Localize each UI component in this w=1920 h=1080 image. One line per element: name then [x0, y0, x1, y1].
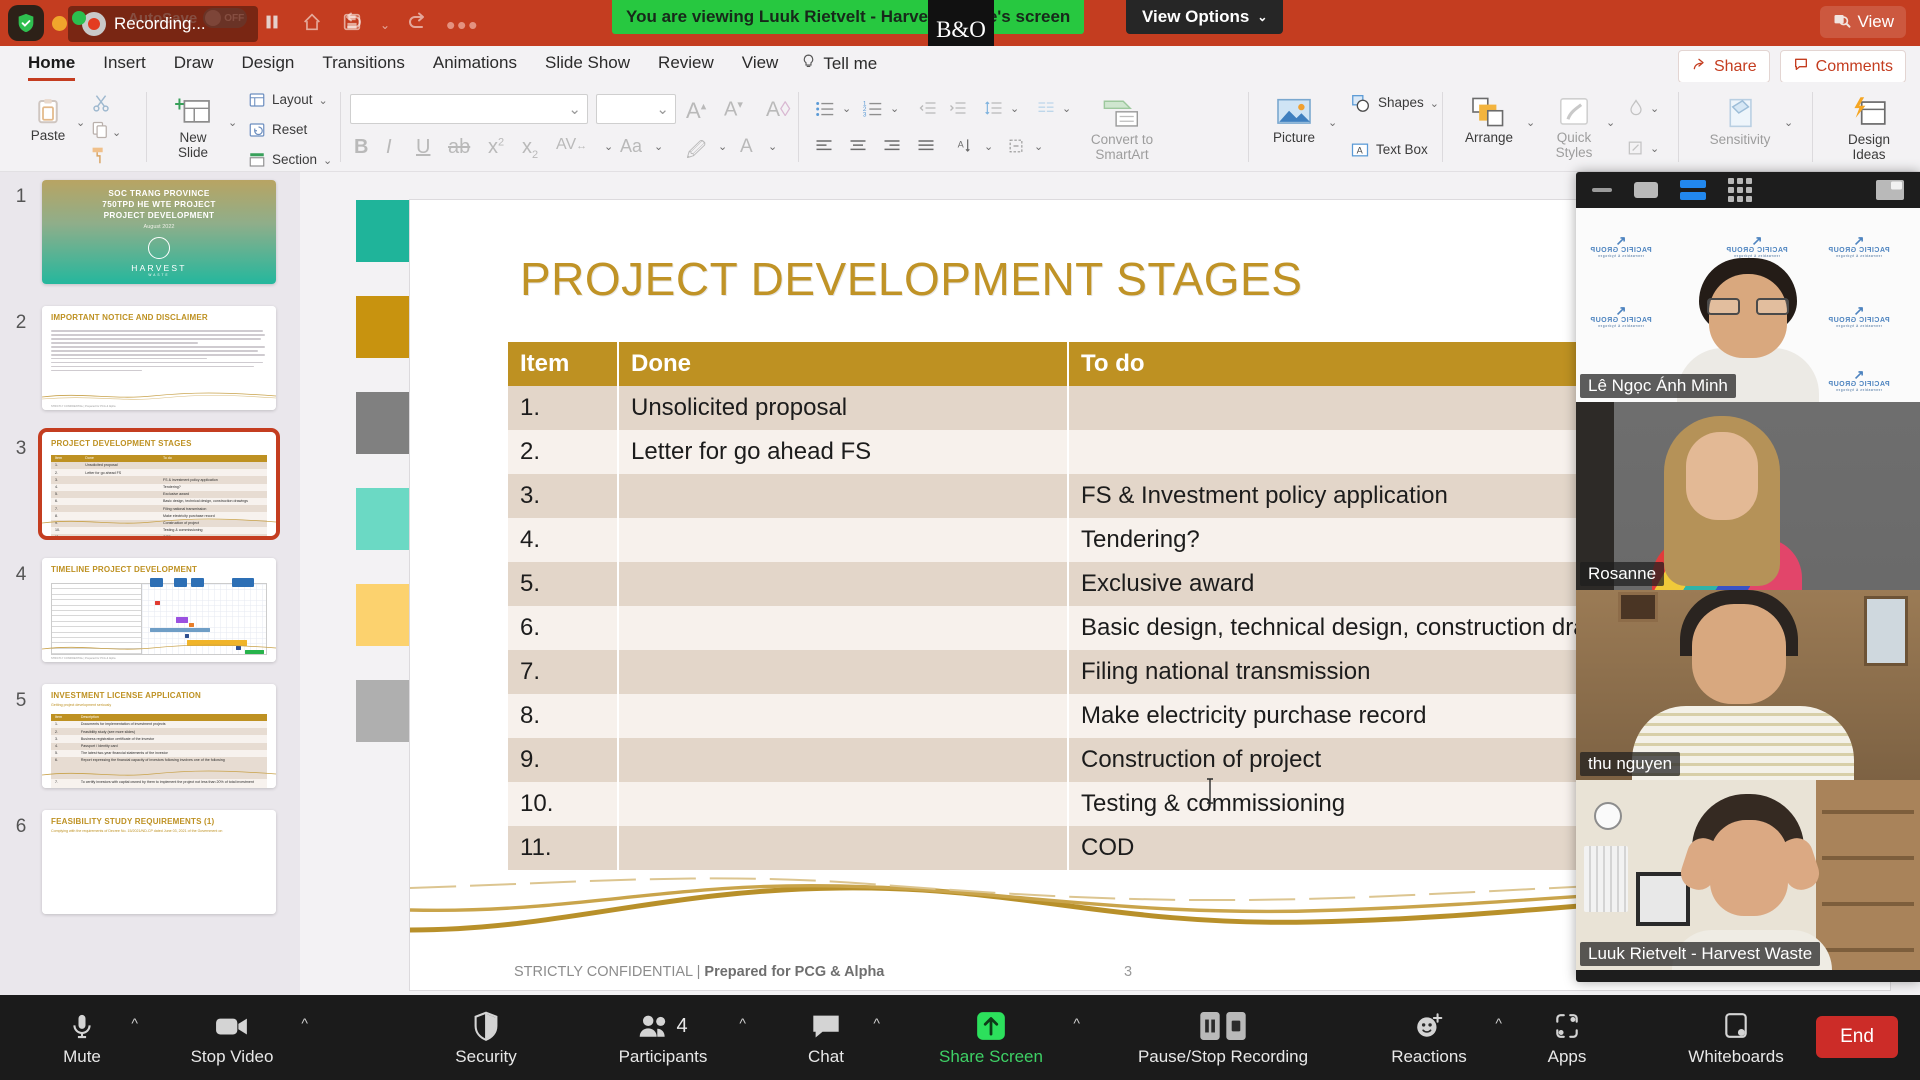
italic-button[interactable]: I — [386, 136, 392, 159]
thumbnail-card[interactable]: SOC TRANG PROVINCE 750TPD HE WTE PROJECT… — [42, 180, 276, 284]
copy-icon[interactable] — [90, 120, 110, 145]
home-icon[interactable] — [298, 8, 326, 36]
thumbnail-content: PROJECT DEVELOPMENT STAGES ItemDoneTo do… — [42, 432, 276, 536]
tab-review[interactable]: Review — [644, 49, 728, 79]
powerpoint-title-bar: AutoSave OFF Recording... ⌄ ••• You are … — [0, 0, 1920, 46]
swatch-light-teal[interactable] — [356, 488, 416, 550]
smiley-plus-icon — [1414, 1010, 1444, 1042]
microphone-icon — [68, 1010, 96, 1042]
section-label: Section — [272, 152, 317, 167]
undo-redo-group: ⌄ ••• — [340, 10, 479, 39]
share-screen-label: Share Screen — [939, 1048, 1043, 1065]
bo-logo-text: B&O — [936, 20, 986, 40]
tab-insert[interactable]: Insert — [89, 49, 160, 79]
cell-done: Unsolicited proposal — [618, 386, 1068, 430]
chat-chevron-up-icon[interactable]: ^ — [873, 1015, 880, 1031]
undo-chevron-down-icon[interactable]: ⌄ — [380, 18, 390, 32]
end-meeting-button[interactable]: End — [1816, 1016, 1898, 1058]
section-chevron-down-icon[interactable]: ⌄ — [323, 154, 332, 167]
stop-video-label: Stop Video — [191, 1048, 274, 1065]
share-arrow-icon — [976, 1010, 1006, 1042]
thumbnail-body-lines — [51, 330, 267, 371]
zoom-meeting-toolbar: Mute ^ Stop Video ^ Security 4 Participa… — [0, 995, 1920, 1080]
thumbnail-title: INVESTMENT LICENSE APPLICATION — [51, 691, 267, 700]
text-cursor-icon — [1205, 778, 1215, 804]
share-icon — [1691, 56, 1707, 77]
copy-chevron-down-icon[interactable]: ⌄ — [112, 126, 121, 139]
line-spacing-icon[interactable] — [984, 98, 1004, 123]
highlight-chevron-down-icon[interactable]: ⌄ — [718, 140, 727, 153]
cut-scissors-icon[interactable] — [90, 92, 112, 119]
swatch-gold[interactable] — [356, 296, 416, 358]
participants-icon: 4 — [638, 1010, 687, 1042]
tab-draw[interactable]: Draw — [160, 49, 228, 79]
reactions-chevron-up-icon[interactable]: ^ — [1495, 1015, 1502, 1031]
apps-button[interactable]: Apps — [1530, 995, 1604, 1080]
harvest-logo: HARVEST WASTE — [42, 237, 276, 277]
arrange-label: Arrange — [1465, 130, 1513, 145]
color-swatch-strip — [356, 200, 416, 776]
recording-indicator[interactable]: Recording... — [68, 6, 258, 42]
picture-chevron-down-icon[interactable]: ⌄ — [1328, 116, 1337, 129]
ribbon-group-drawing: Arrange ⌄ QuickStyles ⌄ ⌄ ⌄ — [1452, 82, 1667, 172]
numbering-chevron-down-icon[interactable]: ⌄ — [890, 102, 899, 115]
ribbon-group-paragraph: ⌄ 123 ⌄ ⌄ ⌄ A ⌄ ⌄ Convert toSmartArt — [808, 82, 1138, 172]
text-highlight-icon[interactable]: 🖉 — [686, 136, 706, 168]
chat-bubble-icon — [811, 1010, 841, 1042]
format-painter-icon[interactable] — [88, 144, 110, 171]
line-spacing-chevron-down-icon[interactable]: ⌄ — [1010, 102, 1019, 115]
column-header-item: Item — [508, 342, 618, 386]
ribbon-body: Paste ⌄ ⌄ NewSlide ⌄ Layout ⌄ Reset Sect… — [0, 82, 1920, 172]
subscript-button[interactable]: x2 — [522, 136, 538, 161]
mute-label: Mute — [63, 1048, 101, 1065]
thumbnail-content: FEASIBILITY STUDY REQUIREMENTS (1) Compl… — [42, 810, 276, 914]
cell-item: 4. — [508, 518, 618, 562]
decorative-wave — [42, 642, 276, 654]
thumbnail-title: PROJECT DEVELOPMENT STAGES — [51, 439, 267, 448]
participant-name: thu nguyen — [1580, 752, 1680, 776]
share-button-label: Share — [1714, 58, 1757, 76]
text-box-label: Text Box — [1376, 142, 1428, 157]
align-text-icon[interactable] — [1006, 136, 1026, 161]
ribbon-group-slides: NewSlide ⌄ Layout ⌄ Reset Section ⌄ — [156, 82, 326, 172]
picture-button[interactable]: Picture — [1260, 96, 1328, 145]
paste-chevron-down-icon[interactable]: ⌄ — [76, 116, 85, 129]
pause-stop-icon — [1200, 1010, 1246, 1042]
layout-chevron-down-icon[interactable]: ⌄ — [319, 94, 328, 107]
thumbnail-title: TIMELINE PROJECT DEVELOPMENT — [51, 565, 267, 574]
new-slide-label-line1: New — [179, 130, 206, 145]
swatch-yellow[interactable] — [356, 584, 416, 646]
thumbnail-number: 5 — [0, 684, 42, 712]
underline-button[interactable]: U — [416, 136, 430, 159]
cell-done — [618, 738, 1068, 782]
design-ideas-line2: Ideas — [1852, 147, 1885, 162]
thumbnail-card[interactable]: TIMELINE PROJECT DEVELOPMENT — [42, 558, 276, 662]
align-left-icon[interactable] — [814, 136, 834, 161]
picture-in-picture-icon[interactable] — [1876, 180, 1904, 200]
footer-prepared-for: Prepared for PCG & Alpha — [704, 964, 884, 980]
thumbnail-card[interactable]: INVESTMENT LICENSE APPLICATION Getting p… — [42, 684, 276, 788]
chevron-down-icon: ⌄ — [1257, 10, 1267, 24]
mute-button[interactable]: Mute ^ — [44, 995, 120, 1080]
video-chevron-up-icon[interactable]: ^ — [301, 1015, 308, 1031]
swatch-light-gray[interactable] — [356, 680, 416, 742]
paste-button[interactable]: Paste — [20, 96, 76, 143]
view-button-label: View — [1857, 12, 1894, 32]
thumbnail-card[interactable]: FEASIBILITY STUDY REQUIREMENTS (1) Compl… — [42, 810, 276, 914]
cell-done — [618, 474, 1068, 518]
recording-label: Recording... — [114, 14, 206, 34]
convert-to-smartart-button[interactable]: Convert toSmartArt — [1076, 96, 1168, 162]
svg-text:A: A — [958, 140, 965, 150]
columns-chevron-down-icon[interactable]: ⌄ — [1062, 102, 1071, 115]
cell-item: 9. — [508, 738, 618, 782]
participants-button[interactable]: 4 Participants ^ — [598, 995, 728, 1080]
new-slide-label-line2: Slide — [178, 145, 208, 160]
cell-item: 5. — [508, 562, 618, 606]
font-color-icon[interactable]: A — [740, 136, 753, 158]
font-size-select[interactable]: ⌄ — [596, 94, 676, 124]
screen-share-banner: You are viewing Luuk Rietvelt - Harvest … — [612, 0, 1084, 34]
clear-formatting-icon[interactable]: A◊ — [766, 98, 790, 122]
participant-tile-active[interactable]: thu nguyen — [1576, 590, 1920, 780]
quick-styles-chevron-down-icon[interactable]: ⌄ — [1606, 116, 1615, 129]
cell-item: 7. — [508, 650, 618, 694]
thumbnail-subtitle: Getting project development seriously — [51, 703, 267, 707]
thumbnail-footer: STRICTLY CONFIDENTIAL | Prepared for PCG… — [51, 405, 115, 408]
text-box-button[interactable]: A Text Box — [1350, 140, 1428, 160]
tab-home[interactable]: Home — [14, 49, 89, 79]
zoom-panel-controls — [1576, 172, 1920, 208]
thumbnail-number: 6 — [0, 810, 42, 838]
sensitivity-chevron-down-icon[interactable]: ⌄ — [1784, 116, 1793, 129]
participant-name: Lê Ngọc Ánh Minh — [1580, 374, 1736, 398]
tab-transitions[interactable]: Transitions — [308, 49, 419, 79]
tell-me-search[interactable]: Tell me — [792, 53, 877, 75]
thumbnail-content: INVESTMENT LICENSE APPLICATION Getting p… — [42, 684, 276, 788]
cell-item: 1. — [508, 386, 618, 430]
thumbnail-title: IMPORTANT NOTICE AND DISCLAIMER — [51, 313, 267, 322]
character-spacing-button[interactable]: AV↔ — [556, 136, 587, 154]
bullet-list-icon[interactable] — [814, 98, 836, 125]
whiteboards-button[interactable]: Whiteboards — [1656, 995, 1816, 1080]
share-screen-button[interactable]: Share Screen ^ — [920, 995, 1062, 1080]
new-slide-button[interactable]: NewSlide — [160, 96, 226, 160]
shape-fill-icon[interactable] — [1626, 98, 1646, 123]
thumbnail-date: August 2022 — [42, 224, 276, 230]
slide-title[interactable]: PROJECT DEVELOPMENT STAGES — [520, 252, 1302, 306]
thumbnail-cover-art: SOC TRANG PROVINCE 750TPD HE WTE PROJECT… — [42, 180, 276, 284]
reset-label: Reset — [272, 122, 307, 137]
view-options-label: View Options — [1142, 7, 1249, 27]
shape-effects-chevron-down-icon[interactable]: ⌄ — [1650, 142, 1659, 155]
mute-chevron-up-icon[interactable]: ^ — [131, 1015, 138, 1031]
font-color-chevron-down-icon[interactable]: ⌄ — [768, 140, 777, 153]
apps-label: Apps — [1548, 1048, 1587, 1065]
align-right-icon[interactable] — [882, 136, 902, 161]
shape-effects-icon[interactable] — [1626, 138, 1646, 163]
comments-button-label: Comments — [1816, 58, 1893, 76]
share-button[interactable]: Share — [1678, 50, 1770, 83]
cell-item: 10. — [508, 782, 618, 826]
sensitivity-button[interactable]: Sensitivity — [1700, 96, 1780, 147]
magnifier-icon — [1832, 10, 1852, 35]
align-text-chevron-down-icon[interactable]: ⌄ — [1034, 140, 1043, 153]
brand-subname: WASTE — [42, 273, 276, 277]
chat-label: Chat — [808, 1048, 844, 1065]
cell-done — [618, 694, 1068, 738]
cell-done — [618, 562, 1068, 606]
participants-label: Participants — [619, 1048, 708, 1065]
comments-button[interactable]: Comments — [1780, 50, 1906, 83]
participant-video: ↖PACIFIC GROUPrenewables & hydrogen ↖PAC… — [1576, 208, 1920, 402]
security-button[interactable]: Security — [436, 995, 536, 1080]
participants-count-badge: 4 — [676, 1015, 687, 1038]
decrease-font-size-icon[interactable]: A▾ — [724, 98, 743, 122]
lightbulb-icon — [800, 53, 817, 75]
cell-done — [618, 650, 1068, 694]
increase-font-size-icon[interactable]: A▴ — [686, 98, 706, 124]
reactions-button[interactable]: Reactions ^ — [1374, 995, 1484, 1080]
column-header-done: Done — [618, 342, 1068, 386]
quick-styles-line1: Quick — [1557, 130, 1592, 145]
font-size-chevron-down-icon: ⌄ — [656, 100, 669, 118]
tab-design[interactable]: Design — [227, 49, 308, 79]
arrange-chevron-down-icon[interactable]: ⌄ — [1526, 116, 1535, 129]
end-label: End — [1840, 1026, 1874, 1048]
thumbnail-number: 3 — [0, 432, 42, 460]
zoom-video-panel[interactable]: ↖PACIFIC GROUPrenewables & hydrogen ↖PAC… — [1576, 172, 1920, 982]
cell-item: 3. — [508, 474, 618, 518]
security-shield-icon[interactable] — [8, 5, 44, 41]
shapes-label: Shapes — [1378, 95, 1424, 110]
ribbon-group-font: ⌄ ⌄ A▴ A▾ A◊ B I U ab x2 x2 AV↔ ⌄ Aa ⌄ 🖉… — [350, 82, 790, 172]
paste-label: Paste — [31, 128, 66, 143]
thumbnail-slide-3[interactable]: 3 PROJECT DEVELOPMENT STAGES ItemDoneTo … — [0, 432, 300, 536]
minimize-icon[interactable] — [1592, 188, 1612, 192]
cell-done — [618, 826, 1068, 870]
cell-item: 11. — [508, 826, 618, 870]
brand-name: HARVEST — [42, 263, 276, 273]
shapes-button[interactable]: Shapes ⌄ — [1350, 92, 1439, 114]
swatch-teal[interactable] — [356, 200, 416, 262]
undo-icon[interactable] — [340, 10, 364, 39]
thumbnail-slide-4[interactable]: 4 TIMELINE PROJECT DEVELOPMENT — [0, 558, 300, 662]
video-camera-icon — [215, 1010, 249, 1042]
thumbnail-slide-5[interactable]: 5 INVESTMENT LICENSE APPLICATION Getting… — [0, 684, 300, 788]
layout-label: Layout — [272, 92, 313, 107]
reactions-label: Reactions — [1391, 1048, 1467, 1065]
whiteboards-label: Whiteboards — [1688, 1048, 1783, 1065]
svg-text:A: A — [1357, 145, 1364, 155]
pause-stop-recording-label: Pause/Stop Recording — [1138, 1048, 1308, 1065]
decorative-wave — [42, 390, 276, 402]
numbered-list-icon[interactable]: 123 — [862, 98, 884, 125]
decorative-wave — [42, 768, 276, 780]
apps-icon — [1553, 1010, 1581, 1042]
design-ideas-line1: Design — [1848, 132, 1890, 147]
reset-button[interactable]: Reset — [248, 121, 307, 139]
decrease-indent-icon[interactable] — [918, 98, 938, 123]
ribbon-group-clipboard: Paste ⌄ ⌄ — [14, 82, 134, 172]
justify-icon[interactable] — [916, 136, 936, 161]
ribbon-group-insert: Picture ⌄ Shapes ⌄ A Text Box — [1258, 82, 1458, 172]
window-dots — [52, 16, 67, 31]
quick-styles-line2: Styles — [1556, 145, 1593, 160]
whiteboard-icon — [1722, 1010, 1750, 1042]
svg-text:3: 3 — [863, 111, 867, 118]
change-case-chevron-down-icon[interactable]: ⌄ — [654, 140, 663, 153]
new-slide-chevron-down-icon[interactable]: ⌄ — [228, 116, 237, 129]
shapes-chevron-down-icon[interactable]: ⌄ — [1430, 97, 1439, 110]
participant-name: Luuk Rietvelt - Harvest Waste — [1580, 942, 1820, 966]
stop-video-button[interactable]: Stop Video ^ — [174, 995, 290, 1080]
footer-confidential: STRICTLY CONFIDENTIAL — [514, 964, 693, 980]
cell-item: 8. — [508, 694, 618, 738]
participant-name: Rosanne — [1580, 562, 1664, 586]
ribbon-group-designer: DesignIdeas — [1822, 82, 1920, 172]
slide-page-number: 3 — [1124, 964, 1132, 980]
thumbnail-content: TIMELINE PROJECT DEVELOPMENT — [42, 558, 276, 662]
text-direction-icon[interactable]: A — [956, 136, 976, 161]
active-speaker-view-icon[interactable] — [1634, 182, 1658, 198]
thumbnail-slide-6[interactable]: 6 FEASIBILITY STUDY REQUIREMENTS (1) Com… — [0, 810, 300, 914]
thumbnail-number: 2 — [0, 306, 42, 334]
participant-tile[interactable]: Luuk Rietvelt - Harvest Waste — [1576, 780, 1920, 970]
cell-item: 2. — [508, 430, 618, 474]
cell-done — [618, 782, 1068, 826]
thumbnail-card-selected[interactable]: PROJECT DEVELOPMENT STAGES ItemDoneTo do… — [42, 432, 276, 536]
thumbnail-footer: STRICTLY CONFIDENTIAL | Prepared for PCG… — [51, 657, 115, 660]
slide-thumbnail-panel[interactable]: 1 SOC TRANG PROVINCE 750TPD HE WTE PROJE… — [0, 172, 300, 995]
thumbnail-slide-1[interactable]: 1 SOC TRANG PROVINCE 750TPD HE WTE PROJE… — [0, 180, 300, 284]
bullets-chevron-down-icon[interactable]: ⌄ — [842, 102, 851, 115]
change-case-button[interactable]: Aa — [620, 136, 642, 157]
view-search-button[interactable]: View — [1820, 6, 1906, 38]
tab-slide-show[interactable]: Slide Show — [531, 49, 644, 79]
increase-indent-icon[interactable] — [948, 98, 968, 123]
security-label: Security — [455, 1048, 516, 1065]
ribbon-group-sensitivity: Sensitivity ⌄ — [1688, 82, 1808, 172]
cell-done: Letter for go ahead FS — [618, 430, 1068, 474]
decorative-wave — [42, 516, 276, 528]
thumbnail-number: 4 — [0, 558, 42, 586]
slide-footer: STRICTLY CONFIDENTIAL | Prepared for PCG… — [514, 964, 884, 980]
convert-smartart-line1: Convert to — [1091, 132, 1153, 147]
chat-button[interactable]: Chat ^ — [790, 995, 862, 1080]
convert-smartart-line2: SmartArt — [1095, 147, 1148, 162]
thumbnail-card[interactable]: IMPORTANT NOTICE AND DISCLAIMER STRICTLY… — [42, 306, 276, 410]
thumbnail-subtitle: Complying with the requirements of Decre… — [51, 829, 267, 833]
font-name-select[interactable]: ⌄ — [350, 94, 588, 124]
columns-icon[interactable] — [1036, 98, 1056, 123]
screen-share-banner-text: You are viewing Luuk Rietvelt - Harvest … — [626, 7, 1070, 27]
layout-button[interactable]: Layout ⌄ — [248, 91, 328, 109]
thumbnail-slide-2[interactable]: 2 IMPORTANT NOTICE AND DISCLAIMER STRICT… — [0, 306, 300, 410]
more-commands-icon[interactable]: ••• — [446, 18, 479, 32]
cell-done — [618, 606, 1068, 650]
arrange-button[interactable]: Arrange — [1454, 96, 1524, 145]
tab-animations[interactable]: Animations — [419, 49, 531, 79]
participant-tile[interactable]: ↖PACIFIC GROUPrenewables & hydrogen ↖PAC… — [1576, 208, 1920, 402]
window-minimize-dot[interactable] — [52, 16, 67, 31]
sensitivity-label: Sensitivity — [1710, 132, 1771, 147]
participants-chevron-up-icon[interactable]: ^ — [739, 1015, 746, 1031]
redo-icon[interactable] — [406, 10, 430, 39]
text-direction-chevron-down-icon[interactable]: ⌄ — [984, 140, 993, 153]
strikethrough-button[interactable]: ab — [448, 136, 470, 159]
view-options-button[interactable]: View Options ⌄ — [1126, 0, 1283, 34]
swatch-gray[interactable] — [356, 392, 416, 454]
pause-stop-recording-button[interactable]: Pause/Stop Recording — [1114, 995, 1332, 1080]
thumbnail-title: FEASIBILITY STUDY REQUIREMENTS (1) — [51, 817, 267, 826]
shield-icon — [472, 1010, 500, 1042]
superscript-button[interactable]: x2 — [488, 136, 504, 159]
share-screen-chevron-up-icon[interactable]: ^ — [1073, 1015, 1080, 1031]
participant-tile[interactable]: Rosanne — [1576, 402, 1920, 590]
font-name-chevron-down-icon: ⌄ — [568, 100, 581, 118]
character-spacing-chevron-down-icon[interactable]: ⌄ — [604, 140, 613, 153]
design-ideas-button[interactable]: DesignIdeas — [1824, 96, 1914, 162]
thumbnail-content: IMPORTANT NOTICE AND DISCLAIMER STRICTLY… — [42, 306, 276, 410]
ribbon-tab-strip: Home Insert Draw Design Transitions Anim… — [0, 46, 1920, 82]
gallery-view-icon[interactable] — [1680, 180, 1706, 200]
align-center-icon[interactable] — [848, 136, 868, 161]
quick-styles-button[interactable]: QuickStyles — [1544, 96, 1604, 160]
comment-bubble-icon — [1793, 56, 1809, 77]
grid-view-icon[interactable] — [1728, 178, 1752, 202]
pause-icon[interactable] — [258, 8, 286, 36]
cell-done — [618, 518, 1068, 562]
tab-view[interactable]: View — [728, 49, 793, 79]
thumbnail-number: 1 — [0, 180, 42, 208]
bold-button[interactable]: B — [354, 136, 368, 159]
tell-me-label: Tell me — [823, 54, 877, 74]
thumbnail-title: SOC TRANG PROVINCE 750TPD HE WTE PROJECT… — [42, 188, 276, 221]
cell-item: 6. — [508, 606, 618, 650]
section-button[interactable]: Section ⌄ — [248, 151, 332, 169]
picture-label: Picture — [1273, 130, 1315, 145]
shape-fill-chevron-down-icon[interactable]: ⌄ — [1650, 102, 1659, 115]
ribbon-right-actions: Share Comments — [1678, 50, 1906, 83]
